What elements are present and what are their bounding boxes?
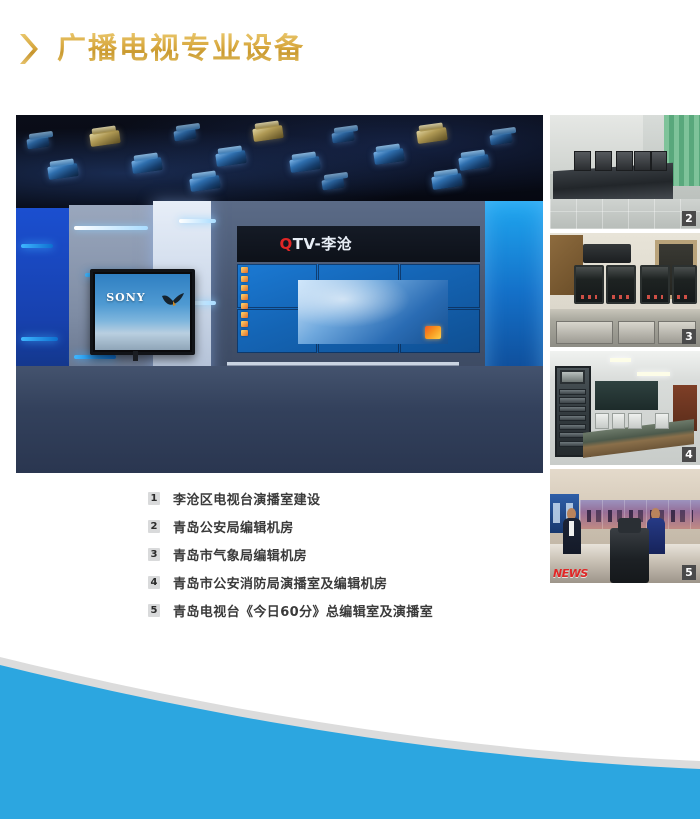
caption-number: 4 bbox=[148, 576, 160, 589]
sony-brand-text: SONY bbox=[106, 291, 145, 304]
sony-television: SONY bbox=[90, 269, 195, 355]
list-item: 3 青岛市气象局编辑机房 bbox=[148, 545, 528, 564]
thumbnail-editing-room[interactable]: 2 bbox=[550, 115, 700, 229]
signage-q-letter: Q bbox=[279, 235, 292, 253]
thumbnail-monitor-rack[interactable]: 3 bbox=[550, 233, 700, 347]
caption-text: 青岛市气象局编辑机房 bbox=[173, 545, 307, 564]
page-root: 广播电视专业设备 bbox=[0, 0, 700, 819]
thumbnail-badge: 4 bbox=[682, 447, 696, 462]
studio-floor bbox=[16, 366, 543, 473]
caption-list: 1 李沧区电视台演播室建设 2 青岛公安局编辑机房 3 青岛市气象局编辑机房 4… bbox=[148, 489, 528, 620]
thumbnail-badge: 3 bbox=[682, 329, 696, 344]
caption-text: 李沧区电视台演播室建设 bbox=[173, 489, 320, 508]
broadcast-studio-photo: QTV-李沧 SONY bbox=[16, 115, 543, 473]
double-chevron-right-icon bbox=[18, 31, 44, 67]
studio-ceiling bbox=[16, 115, 543, 212]
caption-number: 3 bbox=[148, 548, 160, 561]
list-item: 2 青岛公安局编辑机房 bbox=[148, 517, 528, 536]
signage-text: QTV-李沧 bbox=[279, 233, 352, 254]
thumbnail-news-studio[interactable]: NEWS 5 bbox=[550, 469, 700, 583]
tv-wall-mount bbox=[133, 351, 139, 361]
thumbnail-control-room[interactable]: 4 bbox=[550, 351, 700, 465]
video-wall bbox=[237, 264, 479, 354]
studio-camera bbox=[610, 528, 649, 583]
page-header: 广播电视专业设备 bbox=[18, 14, 305, 85]
caption-number: 2 bbox=[148, 520, 160, 533]
caption-text: 青岛市公安消防局演播室及编辑机房 bbox=[173, 573, 387, 592]
caption-number: 1 bbox=[148, 492, 160, 505]
tv-screen: SONY bbox=[95, 274, 190, 350]
caption-text: 青岛公安局编辑机房 bbox=[173, 517, 294, 536]
footer-wave-decoration bbox=[0, 609, 700, 819]
list-item: 4 青岛市公安消防局演播室及编辑机房 bbox=[148, 573, 528, 592]
thumbnail-badge: 2 bbox=[682, 211, 696, 226]
signage-rest: TV-李沧 bbox=[293, 235, 352, 253]
list-item: 1 李沧区电视台演播室建设 bbox=[148, 489, 528, 508]
video-wall-wallpaper bbox=[298, 280, 448, 344]
desktop-icons bbox=[241, 267, 260, 349]
thumbnail-strip: 2 3 bbox=[550, 115, 700, 583]
studio-signage: QTV-李沧 bbox=[237, 226, 479, 262]
news-logo-text: NEWS bbox=[553, 567, 588, 580]
eagle-icon bbox=[161, 292, 183, 308]
windows-logo-icon bbox=[425, 326, 441, 339]
page-title: 广播电视专业设备 bbox=[57, 33, 305, 65]
thumbnail-badge: 5 bbox=[682, 565, 696, 580]
